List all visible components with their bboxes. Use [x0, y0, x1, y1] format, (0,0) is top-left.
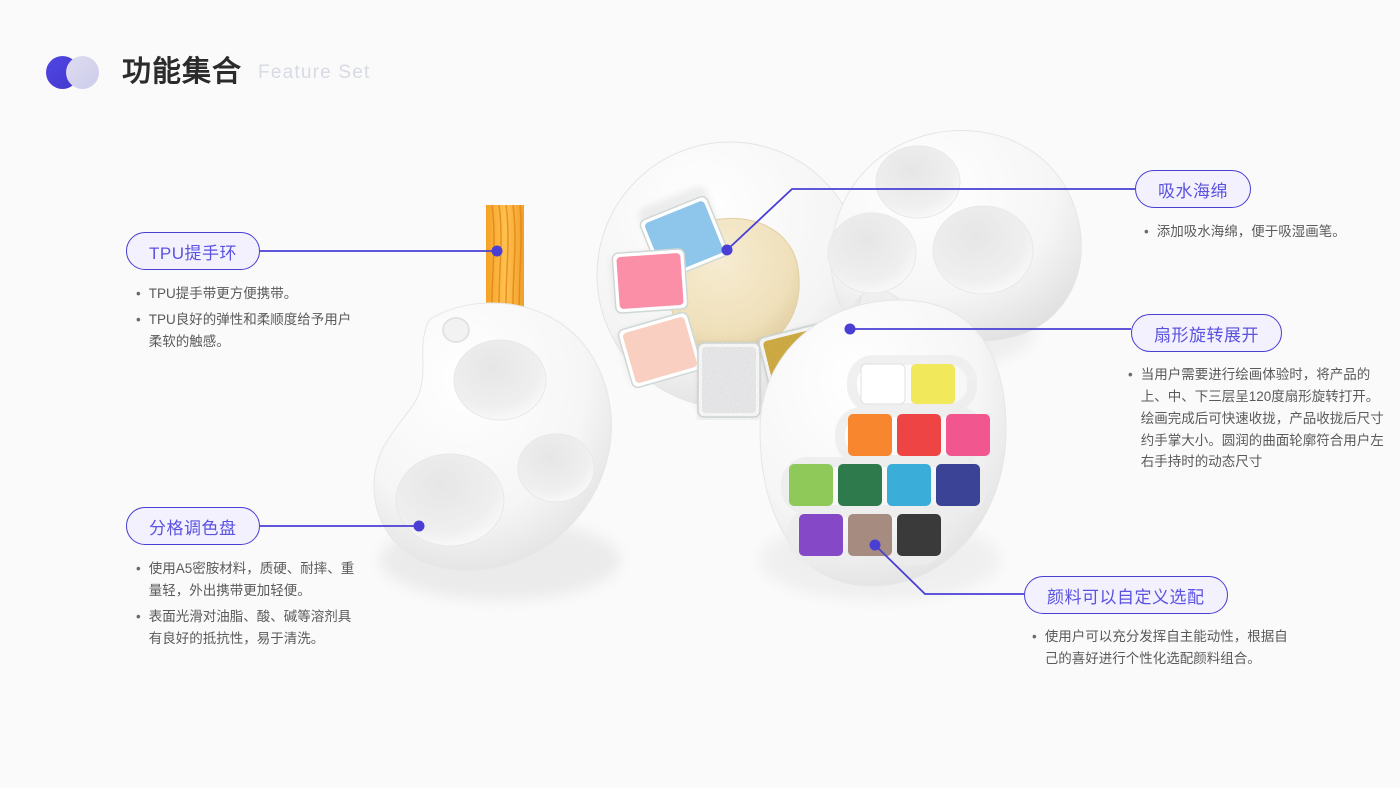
bullet-icon: •: [136, 309, 141, 353]
list-item: • 添加吸水海绵，便于吸湿画笔。: [1144, 221, 1394, 243]
callout-desc-fan-rotation-unfold: • 当用户需要进行绘画体验时，将产品的上、中、下三层呈120度扇形旋转打开。绘画…: [1128, 364, 1390, 477]
list-item: • 当用户需要进行绘画体验时，将产品的上、中、下三层呈120度扇形旋转打开。绘画…: [1128, 364, 1390, 473]
callout-label-divided-palette[interactable]: 分格调色盘: [126, 507, 260, 545]
disc-swatch-glitter-silver: [698, 343, 760, 417]
disc-swatch-pink: [612, 249, 688, 314]
list-item: • TPU提手带更方便携带。: [136, 283, 361, 305]
list-item: • TPU良好的弹性和柔顺度给予用户柔软的触感。: [136, 309, 361, 353]
list-item: • 表面光滑对油脂、酸、碱等溶剂具有良好的抵抗性，易于清洗。: [136, 606, 358, 650]
callout-label-text: 颜料可以自定义选配: [1047, 583, 1205, 608]
bullet-icon: •: [1144, 221, 1149, 243]
pivot-hole-left: [443, 318, 469, 342]
callout-label-text: TPU提手环: [149, 239, 237, 264]
callout-desc-divided-palette: • 使用A5密胺材料，质硬、耐摔、重量轻，外出携带更加轻便。 • 表面光滑对油脂…: [136, 558, 358, 653]
callout-label-text: 吸水海绵: [1158, 177, 1228, 202]
paint-row-2: [848, 414, 990, 456]
callout-label-custom-paint-selection[interactable]: 颜料可以自定义选配: [1024, 576, 1228, 614]
list-item: • 使用户可以充分发挥自主能动性，根据自己的喜好进行个性化选配颜料组合。: [1032, 626, 1288, 670]
callout-label-text: 分格调色盘: [149, 514, 237, 539]
callout-label-fan-rotation-unfold[interactable]: 扇形旋转展开: [1131, 314, 1282, 352]
bullet-icon: •: [1032, 626, 1037, 670]
list-item: • 使用A5密胺材料，质硬、耐摔、重量轻，外出携带更加轻便。: [136, 558, 358, 602]
callout-label-water-absorbing-sponge[interactable]: 吸水海绵: [1135, 170, 1251, 208]
bullet-icon: •: [136, 558, 141, 602]
slide-canvas: 功能集合 Feature Set: [0, 0, 1400, 788]
callout-desc-water-absorbing-sponge: • 添加吸水海绵，便于吸湿画笔。: [1144, 221, 1394, 247]
bullet-icon: •: [136, 606, 141, 650]
paint-row-4: [799, 514, 941, 556]
callout-label-tpu-handle-ring[interactable]: TPU提手环: [126, 232, 260, 270]
callout-desc-custom-paint-selection: • 使用户可以充分发挥自主能动性，根据自己的喜好进行个性化选配颜料组合。: [1032, 626, 1288, 674]
bullet-icon: •: [1128, 364, 1133, 473]
callout-desc-tpu-handle-ring: • TPU提手带更方便携带。 • TPU良好的弹性和柔顺度给予用户柔软的触感。: [136, 283, 361, 357]
bullet-icon: •: [136, 283, 141, 305]
callout-label-text: 扇形旋转展开: [1154, 321, 1259, 346]
